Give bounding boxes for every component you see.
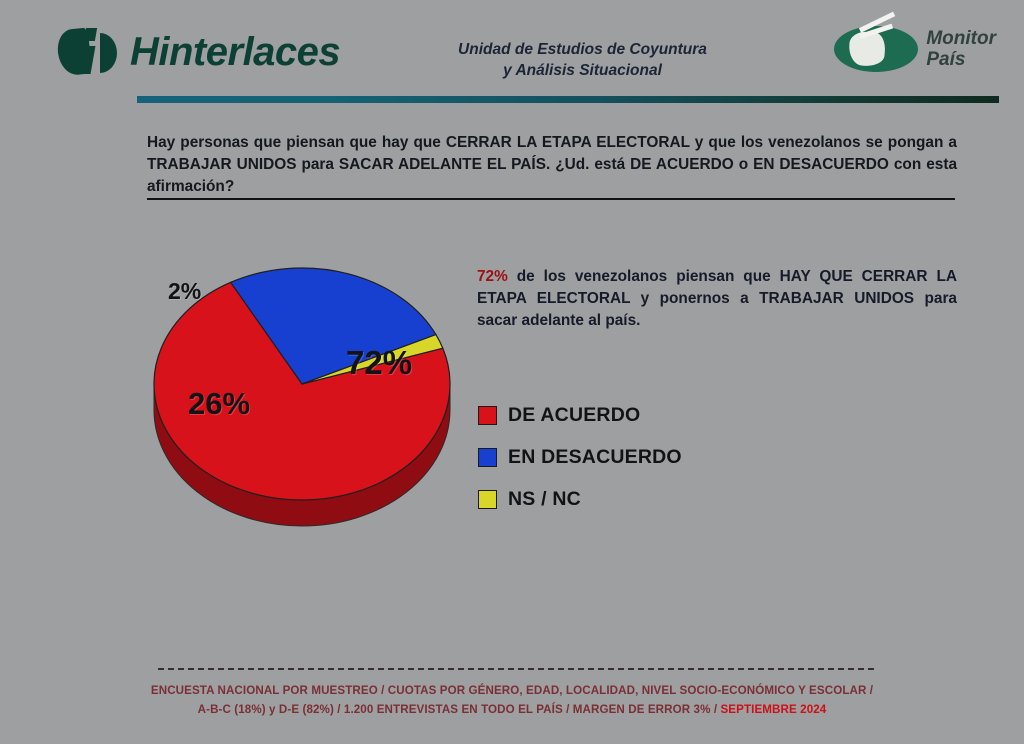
legend-item-ns-nc[interactable]: NS / NC xyxy=(478,478,778,520)
header-subtitle: Unidad de Estudios de Coyuntura y Anális… xyxy=(410,40,755,82)
question-text: Hay personas que piensan que hay que CER… xyxy=(147,132,957,198)
header-subtitle-line2: y Análisis Situacional xyxy=(410,61,755,82)
header-subtitle-line1: Unidad de Estudios de Coyuntura xyxy=(410,40,755,61)
legend-item-de-acuerdo[interactable]: DE ACUERDO xyxy=(478,394,778,436)
callout-rest: de los venezolanos piensan que HAY QUE C… xyxy=(477,268,957,329)
footer-month: SEPTIEMBRE 2024 xyxy=(720,703,826,716)
monitor-pais-logo: Monitor País xyxy=(834,22,996,76)
brand-name: Hinterlaces xyxy=(130,32,340,72)
pie-label-de-acuerdo: 72% xyxy=(346,344,412,382)
pie-chart: 72% 26% 2% xyxy=(150,248,490,538)
footer-line-2: A-B-C (18%) y D-E (82%) / 1.200 ENTREVIS… xyxy=(62,701,962,720)
callout-percent: 72% xyxy=(477,268,508,285)
legend-swatch-icon xyxy=(478,448,497,467)
legend-item-en-desacuerdo[interactable]: EN DESACUERDO xyxy=(478,436,778,478)
pie-label-ns-nc: 2% xyxy=(168,278,201,305)
chart-legend: DE ACUERDO EN DESACUERDO NS / NC xyxy=(478,394,778,520)
monitor-pais-line2: País xyxy=(926,49,996,70)
legend-swatch-icon xyxy=(478,406,497,425)
hinterlaces-logo: Hinterlaces xyxy=(58,22,340,82)
legend-swatch-icon xyxy=(478,490,497,509)
footer-line-2-prefix: A-B-C (18%) y D-E (82%) / 1.200 ENTREVIS… xyxy=(198,703,721,716)
legend-label: EN DESACUERDO xyxy=(508,446,682,469)
question-divider xyxy=(147,198,955,200)
callout-text: 72% de los venezolanos piensan que HAY Q… xyxy=(477,266,957,332)
monitor-pais-line1: Monitor xyxy=(926,28,996,49)
page-header: Hinterlaces Unidad de Estudios de Coyunt… xyxy=(0,0,1024,100)
legend-label: DE ACUERDO xyxy=(508,404,640,427)
pie-label-en-desacuerdo: 26% xyxy=(188,386,250,422)
footer-text: ENCUESTA NACIONAL POR MUESTREO / CUOTAS … xyxy=(62,682,962,720)
monitor-pais-label: Monitor País xyxy=(926,28,996,71)
legend-label: NS / NC xyxy=(508,488,581,511)
footer-divider xyxy=(158,668,874,670)
header-divider xyxy=(137,96,999,103)
hinterlaces-mark-icon xyxy=(58,25,120,79)
globe-compass-icon xyxy=(834,22,918,76)
footer-line-1: ENCUESTA NACIONAL POR MUESTREO / CUOTAS … xyxy=(62,682,962,701)
